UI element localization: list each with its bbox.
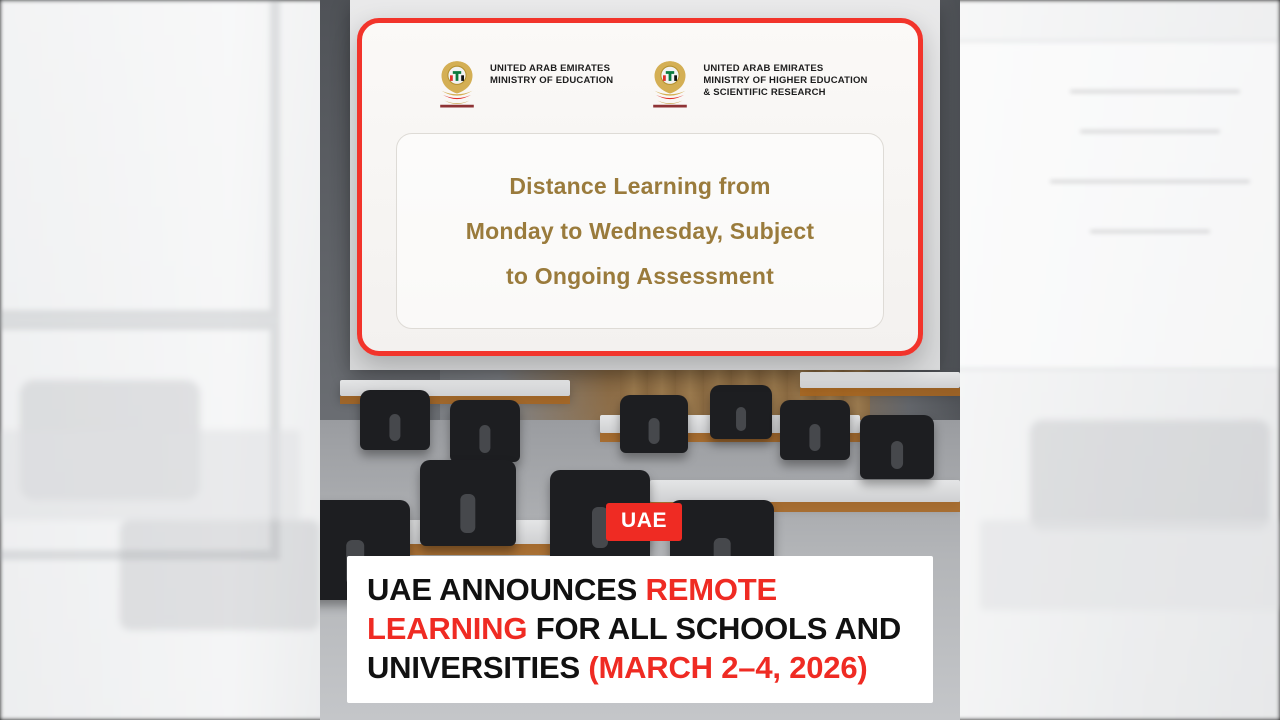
crest-line-3: & SCIENTIFIC RESEARCH [703, 87, 867, 99]
crest-line-1: UNITED ARAB EMIRATES [490, 63, 613, 75]
crest-text-ministry-of-higher-education: UNITED ARAB EMIRATES MINISTRY OF HIGHER … [703, 57, 867, 99]
crest-block-ministry-of-higher-education: UNITED ARAB EMIRATES MINISTRY OF HIGHER … [649, 57, 867, 109]
message-line-2: Monday to Wednesday, Subject [466, 218, 815, 245]
headline-banner: UAE ANNOUNCES REMOTE LEARNING FOR ALL SC… [347, 556, 933, 703]
uae-falcon-emblem-icon [436, 57, 478, 109]
uae-falcon-emblem-icon [649, 57, 691, 109]
message-line-3: to Ongoing Assessment [506, 263, 774, 290]
crest-line-2: MINISTRY OF HIGHER EDUCATION [703, 75, 867, 87]
ministry-crests: UNITED ARAB EMIRATES MINISTRY OF EDUCATI… [388, 45, 892, 109]
video-frame: UNITED ARAB EMIRATES MINISTRY OF EDUCATI… [0, 0, 1280, 720]
crest-block-ministry-of-education: UNITED ARAB EMIRATES MINISTRY OF EDUCATI… [436, 57, 613, 109]
announcement-card: UNITED ARAB EMIRATES MINISTRY OF EDUCATI… [357, 18, 923, 356]
crest-line-2: MINISTRY OF EDUCATION [490, 75, 613, 87]
headline-text: UAE ANNOUNCES REMOTE LEARNING FOR ALL SC… [367, 570, 917, 687]
message-line-1: Distance Learning from [509, 173, 770, 200]
headline-part-4: (MARCH 2–4, 2026) [588, 650, 867, 685]
category-tag: UAE [606, 503, 682, 541]
announcement-message: Distance Learning from Monday to Wednesd… [396, 133, 884, 329]
headline-part-1: UAE ANNOUNCES [367, 572, 646, 607]
crest-text-ministry-of-education: UNITED ARAB EMIRATES MINISTRY OF EDUCATI… [490, 57, 613, 87]
crest-line-1: UNITED ARAB EMIRATES [703, 63, 867, 75]
